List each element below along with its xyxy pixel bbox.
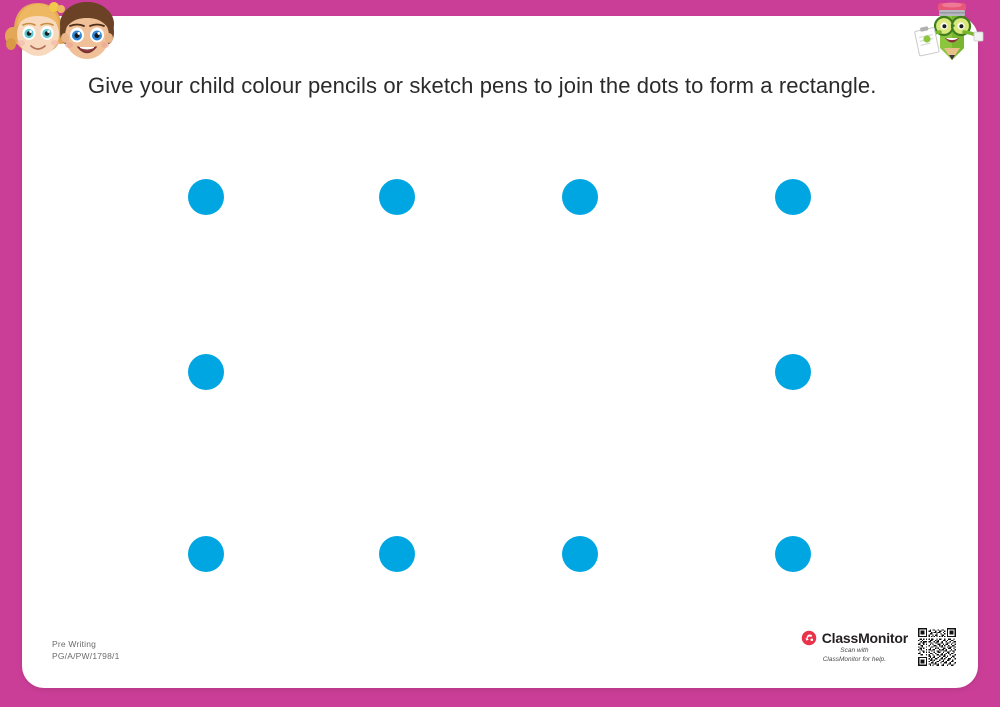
dot-bottom-left	[188, 536, 224, 572]
brand-text-block: ClassMonitor Scan with ClassMonitor for …	[801, 630, 908, 664]
dot-middle-right	[775, 354, 811, 390]
worksheet-card: Give your child colour pencils or sketch…	[22, 16, 978, 688]
qr-code-icon[interactable]	[918, 628, 956, 666]
dot-top-left	[188, 179, 224, 215]
brand-block: ClassMonitor Scan with ClassMonitor for …	[801, 628, 956, 666]
worksheet-page: Give your child colour pencils or sketch…	[0, 0, 1000, 707]
classmonitor-logo-icon	[801, 630, 817, 646]
dot-bottom-right	[775, 536, 811, 572]
dot-top-mid-right	[562, 179, 598, 215]
brand-logo-row: ClassMonitor	[801, 630, 908, 646]
dot-bottom-mid-right	[562, 536, 598, 572]
dot-middle-left	[188, 354, 224, 390]
brand-tagline-line1: Scan with	[840, 646, 868, 655]
brand-tagline-line2: ClassMonitor for help.	[823, 655, 886, 664]
dot-grid	[22, 16, 978, 688]
two-children-faces-icon	[4, 0, 136, 60]
dot-top-right	[775, 179, 811, 215]
footer-category: Pre Writing	[52, 638, 120, 650]
footer-code-id: PG/A/PW/1798/1	[52, 650, 120, 662]
brand-name: ClassMonitor	[822, 630, 908, 646]
pencil-mascot-with-clipboard-icon	[914, 2, 986, 64]
dot-top-mid-left	[379, 179, 415, 215]
dot-bottom-mid-left	[379, 536, 415, 572]
footer-meta: Pre Writing PG/A/PW/1798/1	[52, 638, 120, 662]
